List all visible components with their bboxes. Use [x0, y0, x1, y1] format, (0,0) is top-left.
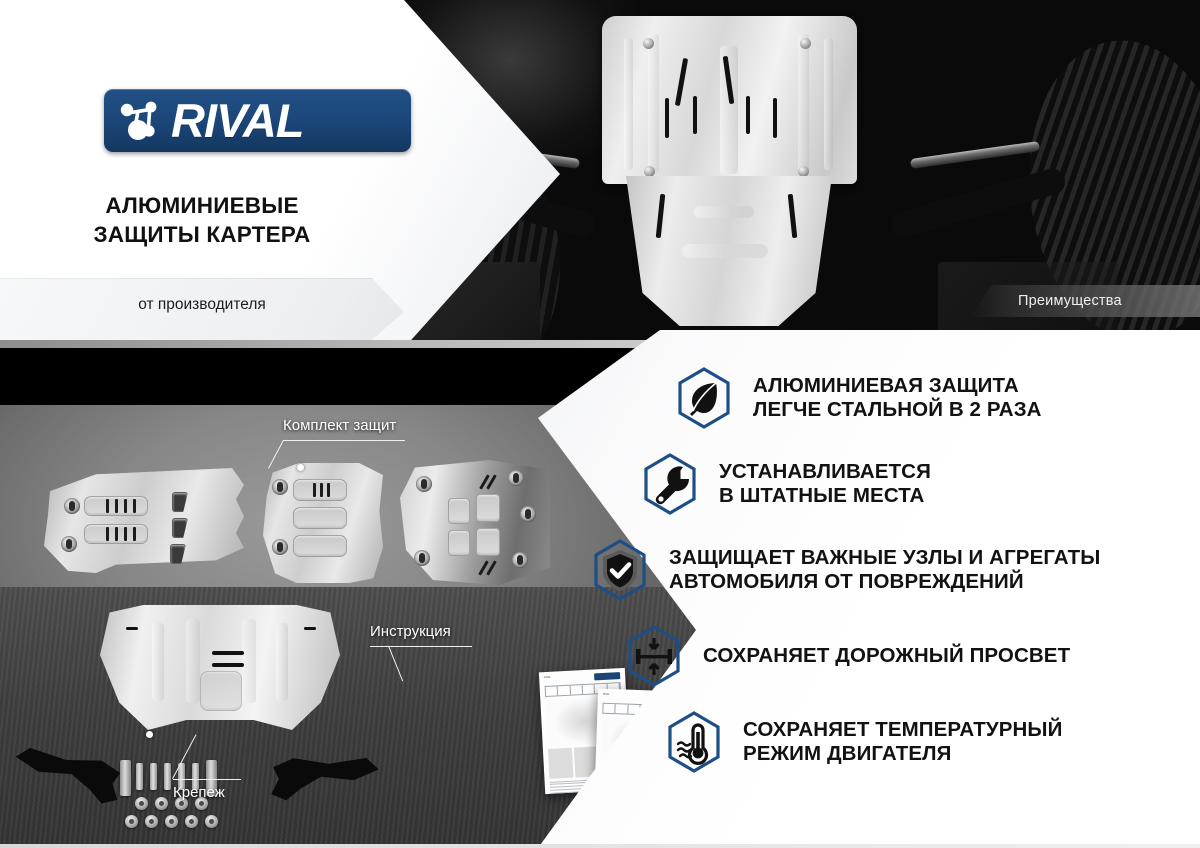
subtitle-text: от производителя	[0, 296, 404, 314]
feature-item-clearance: СОХРАНЯЕТ ДОРОЖНЫЙ ПРОСВЕТ	[622, 624, 1200, 688]
skid-plate-2	[263, 463, 383, 583]
ground-clearance-icon	[622, 624, 686, 688]
leaf-icon	[672, 366, 736, 430]
feature-text-clearance: СОХРАНЯЕТ ДОРОЖНЫЙ ПРОСВЕТ	[703, 644, 1070, 668]
installed-skid-plate	[602, 16, 857, 316]
callout-line-kit	[283, 440, 405, 441]
feature-text-fitment: УСТАНАВЛИВАЕТСЯ В ШТАТНЫЕ МЕСТА	[719, 460, 931, 508]
feature-text-temperature: СОХРАНЯЕТ ТЕМПЕРАТУРНЫЙ РЕЖИМ ДВИГАТЕЛЯ	[743, 718, 1062, 766]
advantages-ribbon-label: Преимущества	[1018, 293, 1122, 309]
skid-plate-1	[44, 468, 244, 573]
wrench-icon	[638, 452, 702, 516]
tie-rod-right	[910, 141, 1040, 169]
molecule-icon	[118, 98, 168, 144]
feature-item-protection: ЗАЩИЩАЕТ ВАЖНЫЕ УЗЛЫ И АГРЕГАТЫ АВТОМОБИ…	[588, 538, 1200, 602]
callout-line-hardware	[173, 779, 241, 780]
feature-text-weight: АЛЮМИНИЕВАЯ ЗАЩИТА ЛЕГЧЕ СТАЛЬНОЙ В 2 РА…	[753, 374, 1042, 422]
page-title-line1: АЛЮМИНИЕВЫЕ	[0, 192, 404, 221]
callout-dot-kit	[297, 464, 304, 471]
rival-logo[interactable]: RIVAL	[104, 89, 411, 152]
skid-plate-3	[400, 460, 550, 585]
bottom-bevel	[0, 844, 1200, 848]
page-title: АЛЮМИНИЕВЫЕ ЗАЩИТЫ КАРТЕРА	[0, 192, 404, 249]
shield-check-icon	[588, 538, 652, 602]
page-title-line2: ЗАЩИТЫ КАРТЕРА	[0, 221, 404, 250]
advantages-ribbon[interactable]: Преимущества	[970, 285, 1200, 317]
thermometer-icon	[662, 710, 726, 774]
feature-item-fitment: УСТАНАВЛИВАЕТСЯ В ШТАТНЫЕ МЕСТА	[638, 452, 1200, 516]
skid-plate-4	[100, 605, 340, 730]
callout-label-kit: Комплект защит	[283, 417, 396, 434]
poster-root: Преимущества RIVAL АЛЮМИНИЕВЫЕ ЗАЩИТЫ КА…	[0, 0, 1200, 848]
advantages-list: АЛЮМИНИЕВАЯ ЗАЩИТА ЛЕГЧЕ СТАЛЬНОЙ В 2 РА…	[660, 366, 1200, 796]
feature-text-protection: ЗАЩИЩАЕТ ВАЖНЫЕ УЗЛЫ И АГРЕГАТЫ АВТОМОБИ…	[669, 546, 1100, 594]
feature-item-temperature: СОХРАНЯЕТ ТЕМПЕРАТУРНЫЙ РЕЖИМ ДВИГАТЕЛЯ	[662, 710, 1200, 774]
feature-item-weight: АЛЮМИНИЕВАЯ ЗАЩИТА ЛЕГЧЕ СТАЛЬНОЙ В 2 РА…	[672, 366, 1200, 430]
callout-label-manual: Инструкция	[370, 623, 451, 640]
rival-logo-wordmark: RIVAL	[171, 97, 304, 144]
callout-label-hardware: Крепеж	[173, 784, 225, 801]
callout-dot-hardware	[146, 731, 153, 738]
callout-line-manual	[370, 646, 472, 647]
